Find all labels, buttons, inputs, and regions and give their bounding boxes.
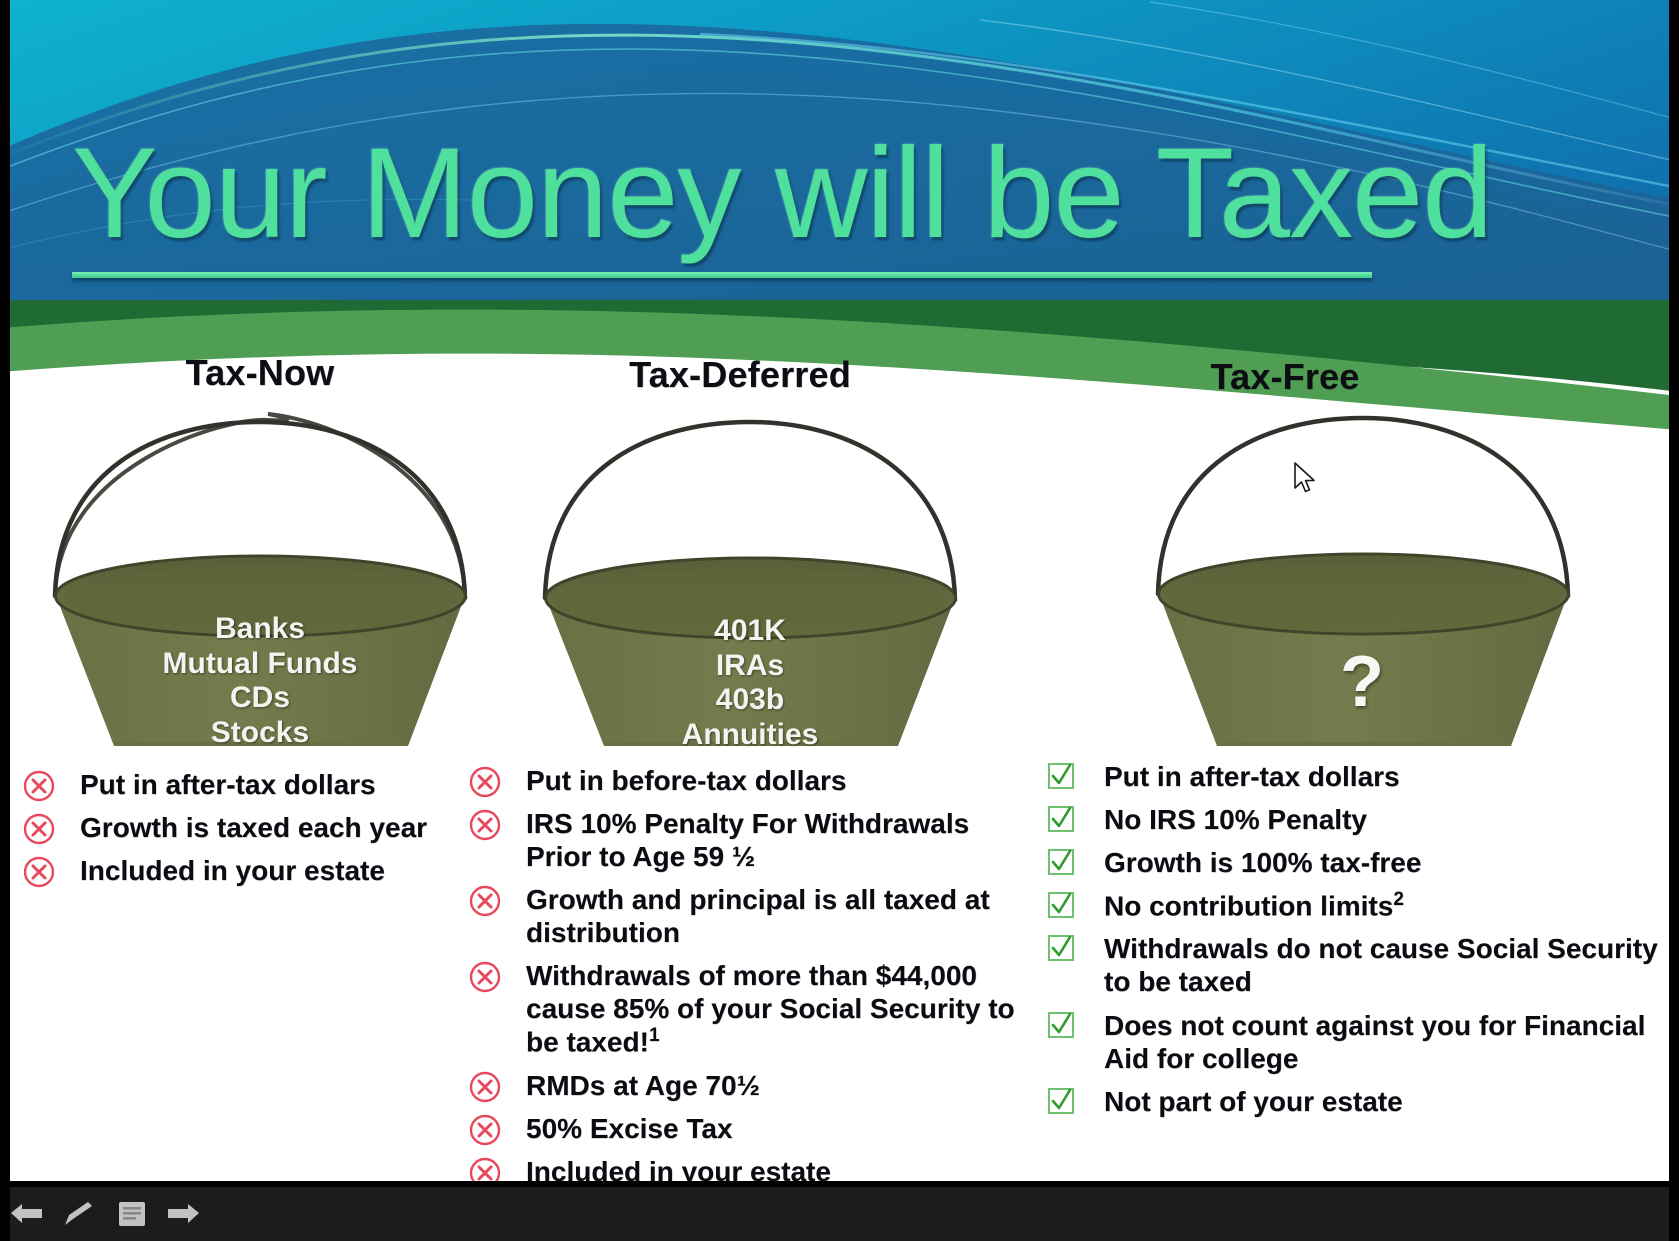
list-item-text: Put in after-tax dollars bbox=[80, 769, 376, 800]
menu-icon bbox=[116, 1200, 148, 1228]
list-item: No contribution limits2 bbox=[1046, 889, 1671, 922]
list-item: Withdrawals of more than $44,000 cause 8… bbox=[468, 959, 1028, 1058]
column-tax-free: Tax-Free bbox=[1000, 330, 1679, 1128]
frame-edge-bottom bbox=[0, 1181, 1679, 1187]
list-item-text: Growth is taxed each year bbox=[80, 812, 427, 843]
list-item: Growth is 100% tax-free bbox=[1046, 846, 1671, 879]
list-item: Put in after-tax dollars bbox=[1046, 760, 1671, 793]
list-item-text: Put in before-tax dollars bbox=[526, 765, 847, 796]
list-item-text: 50% Excise Tax bbox=[526, 1113, 733, 1144]
footnote-marker: 1 bbox=[649, 1025, 660, 1046]
list-item-text: Withdrawals do not cause Social Security… bbox=[1104, 933, 1658, 997]
column-heading-tax-deferred: Tax-Deferred bbox=[460, 354, 1020, 396]
list-item-text: RMDs at Age 70½ bbox=[526, 1070, 760, 1101]
list-item-text: Put in after-tax dollars bbox=[1104, 761, 1400, 792]
bullet-list-tax-free: Put in after-tax dollars No IRS 10% Pena… bbox=[1046, 760, 1671, 1118]
cross-icon bbox=[468, 884, 508, 918]
bucket-svg-deferred bbox=[460, 406, 1020, 746]
list-item-text: Does not count against you for Financial… bbox=[1104, 1010, 1645, 1074]
check-icon bbox=[1046, 847, 1086, 881]
previous-slide-button[interactable] bbox=[6, 1194, 50, 1234]
list-item-text: Growth and principal is all taxed at dis… bbox=[526, 884, 990, 948]
list-item: 50% Excise Tax bbox=[468, 1112, 1028, 1145]
bucket-svg-now bbox=[10, 406, 510, 746]
bucket-graphic-tax-deferred: 401K IRAs 403b Annuities bbox=[460, 406, 1020, 746]
list-item: Does not count against you for Financial… bbox=[1046, 1009, 1671, 1075]
cross-icon bbox=[22, 855, 62, 889]
page-title: Your Money will be Taxed bbox=[72, 130, 1472, 258]
cross-icon bbox=[468, 808, 508, 842]
list-item: RMDs at Age 70½ bbox=[468, 1069, 1028, 1102]
check-icon bbox=[1046, 1086, 1086, 1120]
forward-arrow-icon bbox=[163, 1201, 201, 1227]
cross-icon bbox=[468, 1113, 508, 1147]
bucket-graphic-tax-free: ? bbox=[1000, 406, 1679, 746]
pen-annotation-button[interactable] bbox=[56, 1194, 100, 1234]
list-item: Withdrawals do not cause Social Security… bbox=[1046, 932, 1671, 998]
presentation-slide: Your Money will be Taxed Tax-Now bbox=[0, 0, 1679, 1241]
list-item: IRS 10% Penalty For Withdrawals Prior to… bbox=[468, 807, 1028, 873]
slide-menu-button[interactable] bbox=[110, 1194, 154, 1234]
bullet-list-tax-now: Put in after-tax dollars Growth is taxed… bbox=[22, 768, 502, 887]
slide-header-banner: Your Money will be Taxed bbox=[0, 0, 1679, 330]
cross-icon bbox=[468, 960, 508, 994]
pen-icon bbox=[61, 1200, 95, 1228]
list-item: No IRS 10% Penalty bbox=[1046, 803, 1671, 836]
list-item-text: No contribution limits bbox=[1104, 890, 1393, 921]
cross-icon bbox=[468, 765, 508, 799]
list-item-text: Withdrawals of more than $44,000 cause 8… bbox=[526, 960, 1015, 1057]
cross-icon bbox=[22, 812, 62, 846]
check-icon bbox=[1046, 804, 1086, 838]
slide-body: Tax-Now bbox=[0, 330, 1679, 1220]
list-item: Not part of your estate bbox=[1046, 1085, 1671, 1118]
footnote-marker: 2 bbox=[1393, 889, 1404, 910]
column-heading-tax-now: Tax-Now bbox=[10, 352, 510, 394]
frame-edge-left bbox=[0, 0, 10, 1241]
list-item: Put in before-tax dollars bbox=[468, 764, 1028, 797]
check-icon bbox=[1046, 890, 1086, 924]
check-icon bbox=[1046, 1010, 1086, 1044]
list-item-text: No IRS 10% Penalty bbox=[1104, 804, 1367, 835]
list-item-text: Included in your estate bbox=[80, 855, 385, 886]
list-item-text: Growth is 100% tax-free bbox=[1104, 847, 1421, 878]
column-tax-now: Tax-Now bbox=[10, 330, 510, 897]
frame-edge-right bbox=[1669, 0, 1679, 1241]
presentation-toolbar bbox=[0, 1186, 1679, 1241]
check-icon bbox=[1046, 761, 1086, 795]
list-item: Included in your estate bbox=[22, 854, 502, 887]
mouse-cursor bbox=[1293, 462, 1317, 496]
cross-icon bbox=[22, 769, 62, 803]
list-item-text: Not part of your estate bbox=[1104, 1086, 1403, 1117]
next-slide-button[interactable] bbox=[160, 1194, 204, 1234]
bucket-graphic-tax-now: Banks Mutual Funds CDs Stocks bbox=[10, 406, 510, 746]
list-item: Put in after-tax dollars bbox=[22, 768, 502, 801]
list-item: Growth is taxed each year bbox=[22, 811, 502, 844]
bullet-list-tax-deferred: Put in before-tax dollars IRS 10% Penalt… bbox=[468, 764, 1028, 1188]
check-icon bbox=[1046, 933, 1086, 967]
bucket-question-mark: ? bbox=[1112, 646, 1612, 718]
title-block: Your Money will be Taxed bbox=[72, 130, 1472, 278]
cross-icon bbox=[468, 1070, 508, 1104]
back-arrow-icon bbox=[9, 1201, 47, 1227]
column-tax-deferred: Tax-Deferred bbox=[460, 330, 1020, 1198]
column-heading-tax-free: Tax-Free bbox=[1000, 356, 1570, 398]
title-underline bbox=[72, 272, 1372, 278]
list-item-text: IRS 10% Penalty For Withdrawals Prior to… bbox=[526, 808, 969, 872]
list-item: Growth and principal is all taxed at dis… bbox=[468, 883, 1028, 949]
